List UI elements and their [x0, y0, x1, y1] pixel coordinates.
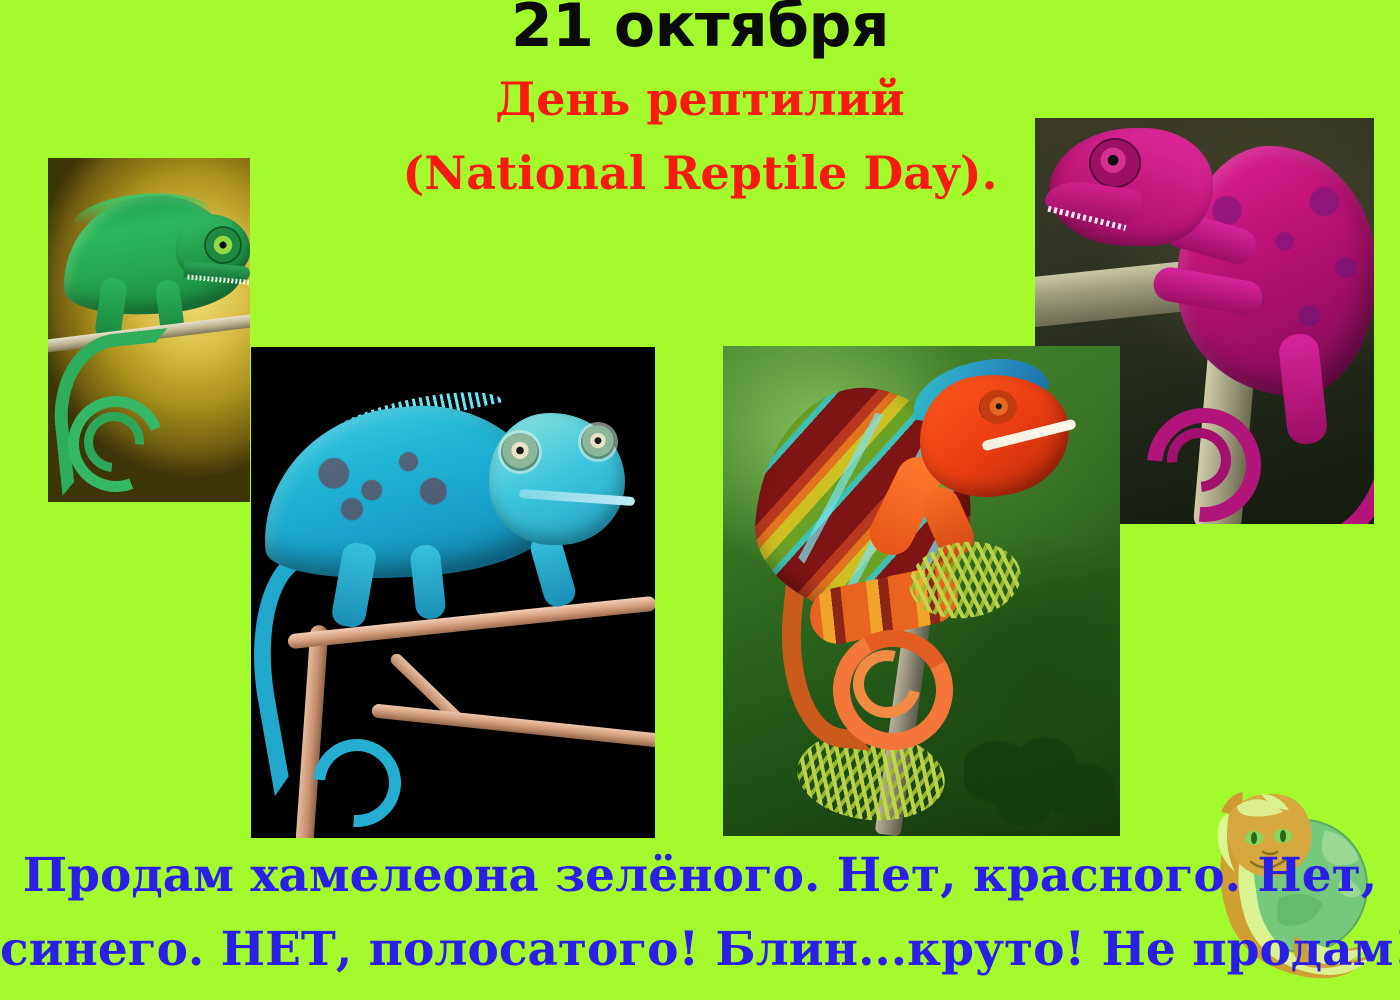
green-chameleon-eye [206, 228, 240, 262]
striped-chameleon-eye [979, 390, 1017, 424]
blue-chameleon-eye-right [581, 425, 615, 459]
photo-striped-chameleon [723, 346, 1120, 836]
page-title-date: 21 октября [0, 0, 1400, 56]
caption-line-2: синего. НЕТ, полосатого! Блин...круто! Н… [0, 926, 1400, 973]
caption-line-1: Продам хамелеона зелёного. Нет, красного… [0, 852, 1400, 899]
striped-photo-bokeh-leaves [964, 736, 1114, 826]
poster-canvas: 21 октября День рептилий (National Repti… [0, 0, 1400, 1000]
blue-chameleon-eye-left [501, 433, 539, 471]
blue-chameleon-spots [299, 430, 488, 542]
blue-chameleon-branch-lower [371, 703, 655, 748]
photo-blue-chameleon [251, 347, 655, 838]
page-title-russian: День рептилий [0, 76, 1400, 122]
photo-green-chameleon [48, 158, 250, 502]
page-title-english: (National Reptile Day). [0, 150, 1400, 196]
